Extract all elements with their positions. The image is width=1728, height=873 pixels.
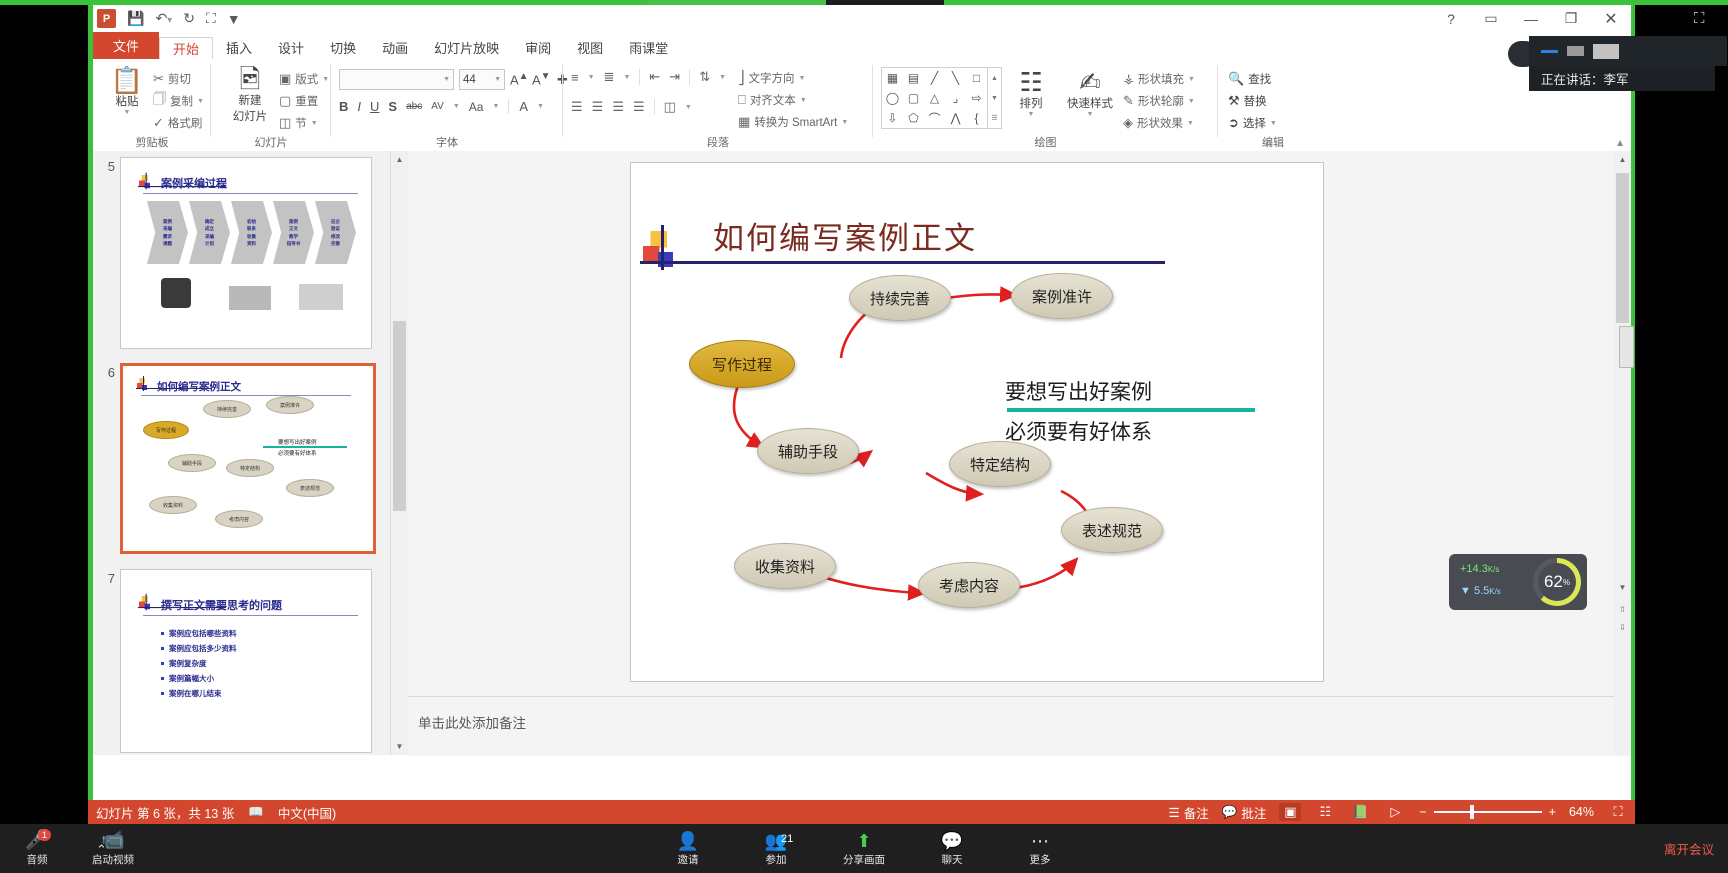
- tab-design[interactable]: 设计: [265, 37, 317, 59]
- help-button[interactable]: ?: [1431, 5, 1471, 32]
- outline-pen-icon: ✎: [1123, 93, 1134, 109]
- upload-speed-unit: K/s: [1488, 565, 1500, 574]
- numbering-icon[interactable]: ≣: [604, 69, 615, 85]
- zoom-level-label[interactable]: 64%: [1569, 805, 1594, 819]
- quick-styles-icon: ✍: [1079, 69, 1101, 95]
- share-screen-label: 分享画面: [843, 852, 885, 867]
- thumbnail-row-5[interactable]: 5 案例采编过程 案例采编需求课题 确定成立采编计划 初始联系收集资料 案例正文…: [93, 157, 390, 349]
- comments-button[interactable]: 💬 批注: [1222, 803, 1267, 822]
- tab-view[interactable]: 视图: [564, 37, 616, 59]
- chevron-down-icon: ▼: [799, 75, 806, 82]
- tab-transitions[interactable]: 切换: [317, 37, 369, 59]
- chevron-up-icon[interactable]: ⌃: [96, 842, 107, 858]
- drawing-group-label: 绘图: [873, 134, 1218, 150]
- copy-label: 复制: [170, 93, 193, 109]
- align-text-label: 对齐文本: [750, 92, 796, 108]
- video-panel[interactable]: 正在讲话：李军: [1529, 36, 1715, 91]
- thumb-node: 辅助手段: [168, 454, 216, 472]
- taskbar-item-audio[interactable]: 1 🎤 音频: [8, 831, 66, 867]
- thumb-bullet: 案例复杂度: [169, 658, 207, 669]
- paste-label: 粘贴: [116, 93, 139, 109]
- cpu-usage-ring: 62%: [1533, 558, 1581, 606]
- select-label: 选择: [1243, 115, 1266, 131]
- taskbar-item-chat[interactable]: 💬 聊天: [923, 831, 981, 867]
- paintbrush-icon: ✓: [153, 115, 164, 131]
- leave-meeting-button[interactable]: 离开会议: [1664, 839, 1714, 858]
- reset-button[interactable]: ▢ 重置: [279, 90, 329, 112]
- download-speed-unit: K/s: [1489, 587, 1501, 596]
- italic-button[interactable]: I: [357, 99, 361, 114]
- status-bar: 幻灯片 第 6 张，共 13 张 📖 中文(中国) ☰ 备注 💬 批注 ▣ ☷ …: [88, 800, 1635, 824]
- section-button[interactable]: ◫ 节 ▼: [279, 112, 329, 134]
- chevron-down-icon: ▼: [197, 98, 204, 105]
- arrange-label: 排列: [1020, 95, 1043, 111]
- columns-icon[interactable]: ◫: [654, 99, 676, 115]
- shape-oval-icon[interactable]: ◯: [882, 88, 903, 108]
- font-group-label: 字体: [331, 134, 563, 150]
- paste-button[interactable]: 📋 粘贴 ▼: [101, 67, 153, 116]
- decrease-indent-icon[interactable]: ⇤: [639, 69, 660, 85]
- section-icon: ◫: [279, 115, 291, 131]
- notes-pane[interactable]: 单击此处添加备注: [408, 696, 1631, 756]
- scroll-down-icon[interactable]: ▼: [391, 738, 408, 755]
- tab-review[interactable]: 审阅: [512, 37, 564, 59]
- notes-placeholder[interactable]: 单击此处添加备注: [418, 712, 526, 732]
- font-name-input[interactable]: ▼: [339, 69, 454, 90]
- chevron-down-icon: ▼: [1270, 120, 1277, 127]
- chevron-down-icon: ▼: [537, 103, 544, 110]
- taskbar-item-participants[interactable]: 21 👥 参加: [747, 831, 805, 867]
- find-button[interactable]: 🔍 查找: [1228, 68, 1277, 90]
- replace-label: 替换: [1244, 93, 1267, 109]
- thumb-node: 特定结构: [226, 459, 274, 477]
- shape-effects-button[interactable]: ◈ 形状效果 ▼: [1123, 112, 1195, 134]
- language-label[interactable]: 中文(中国): [278, 803, 336, 822]
- change-case-button[interactable]: Aa: [469, 100, 484, 114]
- participant-count: 21: [781, 833, 793, 845]
- thumbnail-title: 撰写正文需要思考的问题: [161, 597, 282, 613]
- thumb-node: 持续完善: [203, 400, 251, 418]
- shape-fill-label: 形状填充: [1138, 71, 1184, 87]
- bullet-dot: [161, 632, 164, 635]
- copy-icon: 🗍: [153, 90, 166, 112]
- thumb-books-image: [229, 286, 271, 310]
- format-painter-label: 格式刷: [168, 115, 203, 131]
- slide-title: 如何编写案例正文: [713, 213, 977, 258]
- slide-thumbnail-pane[interactable]: 5 案例采编过程 案例采编需求课题 确定成立采编计划 初始联系收集资料 案例正文…: [93, 151, 390, 755]
- close-button[interactable]: ✕: [1591, 5, 1631, 32]
- flow-node-4[interactable]: 特定结构: [949, 441, 1051, 487]
- shape-effects-label: 形状效果: [1137, 115, 1183, 131]
- notes-button[interactable]: ☰ 备注: [1169, 803, 1209, 822]
- slides-group-label: 幻灯片: [211, 134, 331, 150]
- scroll-down-icon[interactable]: ▼: [988, 88, 1001, 108]
- zoom-in-button[interactable]: +: [1549, 805, 1556, 819]
- format-painter-button[interactable]: ✓ 格式刷: [153, 112, 204, 134]
- slide-banner-line-2: 必须要有好体系: [1005, 416, 1152, 446]
- flow-node-0[interactable]: 持续完善: [849, 275, 951, 321]
- view-normal-button[interactable]: ▣: [1279, 803, 1301, 821]
- invite-label: 邀请: [678, 852, 699, 867]
- chevron-down-icon: ▼: [311, 120, 318, 127]
- taskbar-center: 👤 邀请 21 👥 参加 ⬆ 分享画面 💬 聊天 ⋯ 更多: [659, 824, 1069, 873]
- thumb-node: 考虑内容: [215, 510, 263, 528]
- scrollbar-thumb[interactable]: [1616, 173, 1629, 323]
- restore-icon[interactable]: [1567, 46, 1584, 56]
- chevron-down-icon: ▼: [1188, 76, 1195, 83]
- thumbnail-title: 案例采编过程: [161, 175, 227, 191]
- ribbon-group-clipboard: 📋 粘贴 ▼ ✂ 剪切 🗍 复制 ▼: [93, 59, 211, 151]
- align-right-icon[interactable]: ☰: [612, 99, 624, 115]
- reset-label: 重置: [295, 93, 318, 109]
- powerpoint-window: P 💾 ↶▾ ↻ ⛶ ▼ ? ▭ — ❐ ✕ 文件 开始 插入 设计 切换 动画…: [93, 5, 1631, 800]
- comment-bubble-icon: 💬: [1222, 805, 1238, 820]
- invite-person-icon: 👤: [677, 831, 699, 851]
- spellcheck-icon[interactable]: 📖: [248, 805, 264, 820]
- chevron-down-icon: ▼: [322, 76, 329, 83]
- more-dots-icon: ⋯: [1031, 831, 1049, 851]
- collapse-ribbon-icon[interactable]: ▲: [1615, 138, 1625, 149]
- thumb-node: 写作过程: [143, 421, 189, 439]
- new-slide-icon: 🖻: [240, 66, 261, 92]
- thumb-bullet: 案例应包括多少资料: [169, 643, 237, 654]
- next-slide-icon[interactable]: ⇩: [1616, 621, 1629, 634]
- slide-banner-line-1: 要想写出好案例: [1005, 376, 1152, 406]
- zoom-out-button[interactable]: −: [1419, 805, 1426, 819]
- paragraph-group-label: 段落: [563, 134, 873, 150]
- chevron-down-icon: ▼: [1028, 111, 1035, 118]
- shape-right-arrow-icon[interactable]: ⇨: [966, 88, 987, 108]
- tab-slideshow[interactable]: 幻灯片放映: [421, 37, 512, 59]
- slide-teal-rule: [1007, 408, 1255, 412]
- shape-fill-button[interactable]: ⚶ 形状填充 ▼: [1123, 68, 1195, 90]
- bullet-dot: [161, 692, 164, 695]
- thumb-bullet: 案例在哪儿结束: [169, 688, 222, 699]
- align-left-icon[interactable]: ☰: [571, 99, 583, 115]
- chevron-down-icon: ▼: [623, 74, 630, 81]
- strikethrough-button[interactable]: abc: [406, 101, 422, 112]
- minimize-icon[interactable]: [1541, 50, 1558, 53]
- grow-font-button[interactable]: A▲: [510, 71, 527, 87]
- taskbar-item-share-screen[interactable]: ⬆ 分享画面: [835, 831, 893, 867]
- section-label: 节: [295, 115, 307, 131]
- notes-label: 备注: [1184, 803, 1209, 822]
- character-spacing-button[interactable]: AV: [431, 101, 444, 112]
- ribbon: 📋 粘贴 ▼ ✂ 剪切 🗍 复制 ▼: [93, 59, 1631, 152]
- arrange-button[interactable]: ☷ 排列 ▼: [1005, 69, 1057, 118]
- fullscreen-toggle-icon[interactable]: ⛶: [1694, 10, 1705, 27]
- thumbnail-title: 如何编写案例正文: [157, 379, 241, 394]
- shrink-font-button[interactable]: A▼: [532, 71, 549, 87]
- shape-textbox-icon[interactable]: ▦: [882, 68, 903, 88]
- customize-qat-icon[interactable]: ▼: [227, 11, 241, 27]
- zoom-handle[interactable]: [1470, 805, 1474, 819]
- quick-styles-button[interactable]: ✍ 快速样式 ▼: [1061, 69, 1119, 118]
- window-controls: ? ▭ — ❐ ✕: [1431, 5, 1631, 32]
- save-icon[interactable]: 💾: [127, 10, 144, 27]
- scroll-up-icon[interactable]: ▲: [391, 151, 408, 168]
- view-slide-sorter-button[interactable]: ☷: [1314, 803, 1336, 821]
- share-border-right: [1631, 0, 1635, 802]
- chevron-down-icon: ▼: [800, 97, 807, 104]
- shape-freeform-icon[interactable]: ⋀: [945, 108, 966, 128]
- thumb-bullet-list: 案例应包括哪些资料 案例应包括多少资料 案例复杂度 案例篇幅大小 案例在哪儿结束: [161, 626, 237, 701]
- shape-curve-icon[interactable]: ⌒: [924, 108, 945, 128]
- chevron-down-icon: ▼: [588, 74, 595, 81]
- participants-label: 参加: [766, 852, 787, 867]
- scrollbar-thumb[interactable]: [393, 321, 406, 511]
- cpu-usage-value: 62: [1544, 572, 1563, 592]
- start-presentation-icon[interactable]: ⛶: [206, 10, 216, 27]
- bullet-dot: [161, 662, 164, 665]
- task-pane-toggle[interactable]: [1619, 326, 1634, 368]
- taskbar-item-video[interactable]: 📹 启动视频: [84, 831, 142, 867]
- download-speed-value: 5.5: [1474, 585, 1489, 597]
- new-slide-label-1: 新建: [239, 92, 262, 108]
- shrink-font-label: A: [532, 73, 541, 88]
- active-speaker-label: 正在讲话：李军: [1529, 66, 1715, 91]
- minimize-button[interactable]: —: [1511, 5, 1551, 32]
- chevron-down-icon: ▼: [1087, 111, 1094, 118]
- flow-node-3[interactable]: 辅助手段: [757, 428, 859, 474]
- thumbnail-number: 6: [93, 363, 120, 554]
- cut-button[interactable]: ✂ 剪切: [153, 68, 204, 90]
- chevron-down-icon: ▼: [685, 104, 692, 111]
- quick-styles-label: 快速样式: [1067, 95, 1113, 111]
- cursor-arrow-icon: ➲: [1228, 115, 1239, 131]
- chevron-down-icon: ▼: [492, 103, 499, 110]
- copy-button[interactable]: 🗍 复制 ▼: [153, 90, 204, 112]
- thumb-node: 案例准许: [266, 396, 314, 414]
- network-speed-widget: +14.3K/s ▼ 5.5K/s 62%: [1449, 554, 1587, 610]
- shape-pentagon-icon[interactable]: ⬠: [903, 108, 924, 128]
- maximize-icon[interactable]: [1593, 44, 1619, 59]
- layout-label: 版式: [295, 71, 318, 87]
- bullet-dot: [161, 647, 164, 650]
- shape-outline-label: 形状轮廓: [1138, 93, 1184, 109]
- replace-icon: ⚒: [1228, 93, 1240, 109]
- zoom-taskbar: 1 🎤 音频 📹 启动视频 ⌃ 👤 邀请 21 👥 参加 ⬆ 分享画面: [0, 824, 1728, 873]
- editor-scrollbar[interactable]: ▲ ▼ ⇧ ⇩: [1614, 151, 1631, 755]
- ribbon-group-drawing: ▦ ▤ ╱ ╲ □ ◯ ▢ △ ⌟ ⇨ ⇩ ⬠ ⌒ ⋀ {: [873, 59, 1218, 151]
- cut-label: 剪切: [168, 71, 191, 87]
- screen-root: 您正在观看樊樊元的屏幕 ✎ 查看选项 P 💾 ↶▾ ↻ ⛶ ▼ ? ▭ — ❐ …: [0, 0, 1728, 873]
- align-text-icon: ⎕: [738, 92, 746, 108]
- fit-to-window-icon[interactable]: ⛶: [1607, 803, 1629, 821]
- slide-thumbnail-7[interactable]: 撰写正文需要思考的问题 案例应包括哪些资料 案例应包括多少资料 案例复杂度 案例…: [120, 569, 372, 753]
- select-button[interactable]: ➲ 选择 ▼: [1228, 112, 1277, 134]
- chevron-down-icon: ▼: [719, 74, 726, 81]
- text-direction-button[interactable]: ⎦ 文字方向 ▼: [738, 67, 848, 89]
- tab-insert[interactable]: 插入: [213, 37, 265, 59]
- chevron-down-icon: ▼: [443, 76, 450, 83]
- notes-icon: ☰: [1169, 805, 1180, 820]
- scissors-icon: ✂: [153, 71, 164, 87]
- video-panel-controls[interactable]: [1529, 36, 1727, 66]
- scroll-up-icon[interactable]: ▲: [988, 68, 1001, 88]
- clipboard-icon: 📋: [111, 67, 143, 93]
- underline-button[interactable]: U: [370, 99, 379, 114]
- chevron-down-icon: ▼: [453, 103, 460, 110]
- layout-button[interactable]: ▣ 版式 ▼: [279, 68, 329, 90]
- shape-elbow-icon[interactable]: ⌟: [945, 88, 966, 108]
- slide-count-label: 幻灯片 第 6 张，共 13 张: [96, 803, 234, 822]
- thumb-node: 表述规范: [286, 479, 334, 497]
- ribbon-group-font: ▼ 44 ▼ A▲ A▼ ✚ B I U S abc AV: [331, 59, 563, 151]
- slide-thumbnail-6[interactable]: 如何编写案例正文 持续完善 案例准许 写作过程 辅助手段 特定结构 表述规范 收…: [120, 363, 376, 554]
- view-slideshow-button[interactable]: ▷: [1384, 803, 1406, 821]
- shapes-gallery-scroll[interactable]: ▲ ▼ ☰: [988, 67, 1002, 129]
- tab-file[interactable]: 文件: [93, 32, 159, 59]
- work-area: 5 案例采编过程 案例采编需求课题 确定成立采编计划 初始联系收集资料 案例正文…: [93, 151, 1631, 755]
- binoculars-icon: 🔍: [1228, 71, 1244, 87]
- taskbar-item-more[interactable]: ⋯ 更多: [1011, 831, 1069, 867]
- taskbar-item-invite[interactable]: 👤 邀请: [659, 831, 717, 867]
- thumbnail-row-6[interactable]: 6 如何编写案例正文 持续完善 案例准许 写作过程 辅助手段 特定结构 表述: [93, 363, 390, 554]
- shape-triangle-icon[interactable]: △: [924, 88, 945, 108]
- audio-badge: 1: [38, 829, 51, 841]
- chat-bubble-icon: 💬: [941, 831, 963, 851]
- slide-thumbnail-5[interactable]: 案例采编过程 案例采编需求课题 确定成立采编计划 初始联系收集资料 案例正文教学…: [120, 157, 372, 349]
- flow-node-7[interactable]: 考虑内容: [918, 562, 1020, 608]
- chevron-down-icon: ▼: [841, 119, 848, 126]
- shape-arrow-icon[interactable]: ╲: [945, 68, 966, 88]
- flow-node-6[interactable]: 收集资料: [734, 543, 836, 589]
- scroll-down-icon[interactable]: ▼: [1616, 581, 1629, 594]
- audio-label: 音频: [27, 852, 48, 867]
- text-direction-label: 文字方向: [749, 70, 795, 86]
- smartart-icon: ▦: [738, 114, 750, 130]
- chevron-down-icon: ▼: [1187, 120, 1194, 127]
- font-color-button[interactable]: A: [508, 99, 528, 114]
- ribbon-group-paragraph: ≡▼ ≣▼ ⇤ ⇥ ⇅▼ ☰ ☰ ☰ ☰ ◫▼ ⎦ 文字方向: [563, 59, 873, 151]
- fill-bucket-icon: ⚶: [1123, 71, 1134, 87]
- chevron-down-icon: ▼: [124, 109, 131, 116]
- thumb-clock-image: [161, 278, 191, 308]
- undo-icon[interactable]: ↶▾: [155, 10, 172, 27]
- taskbar-left: 1 🎤 音频 📹 启动视频 ⌃: [8, 824, 142, 873]
- bullets-icon[interactable]: ≡: [571, 70, 579, 85]
- text-shadow-button[interactable]: S: [388, 99, 397, 114]
- grow-font-label: A: [510, 73, 519, 88]
- shapes-gallery[interactable]: ▦ ▤ ╱ ╲ □ ◯ ▢ △ ⌟ ⇨ ⇩ ⬠ ⌒ ⋀ {: [881, 67, 988, 129]
- shape-vertical-textbox-icon[interactable]: ▤: [903, 68, 924, 88]
- download-speed: ▼ 5.5K/s: [1460, 585, 1501, 597]
- chevron-down-icon: ▼: [1188, 98, 1195, 105]
- ribbon-group-slides: 🖻 新建 幻灯片 ▣ 版式 ▼ ▢ 重置: [211, 59, 331, 151]
- flow-node-5[interactable]: 表述规范: [1061, 507, 1163, 553]
- font-size-value: 44: [463, 74, 476, 86]
- shape-rounded-rect-icon[interactable]: ▢: [903, 88, 924, 108]
- view-reading-button[interactable]: 📗: [1349, 803, 1371, 821]
- more-label: 更多: [1030, 852, 1051, 867]
- ribbon-display-options-button[interactable]: ▭: [1471, 5, 1511, 32]
- shape-line-icon[interactable]: ╱: [924, 68, 945, 88]
- find-label: 查找: [1248, 71, 1271, 87]
- line-spacing-icon[interactable]: ⇅: [689, 69, 710, 85]
- thumbnail-row-7[interactable]: 7 撰写正文需要思考的问题 案例应包括哪些资料 案例应包括多少资料 案例复杂度 …: [93, 569, 390, 753]
- zoom-track[interactable]: [1434, 811, 1542, 813]
- reset-icon: ▢: [279, 93, 291, 109]
- thumb-boxes-image: [299, 284, 343, 310]
- ribbon-tab-bar: 文件 开始 插入 设计 切换 动画 幻灯片放映 审阅 视图 雨课堂: [93, 32, 1631, 60]
- thumbnail-pane-scrollbar[interactable]: ▲ ▼: [390, 151, 408, 755]
- chevron-flow: 案例采编需求课题 确定成立采编计划 初始联系收集资料 案例正文教学指导书 征企验…: [147, 201, 356, 264]
- new-slide-button[interactable]: 🖻 新建 幻灯片: [221, 66, 279, 124]
- layout-icon: ▣: [279, 71, 291, 87]
- increase-indent-icon[interactable]: ⇥: [669, 69, 680, 85]
- font-size-input[interactable]: 44 ▼: [459, 69, 505, 90]
- thumbnail-number: 5: [93, 157, 120, 349]
- zoom-slider[interactable]: − +: [1419, 805, 1556, 819]
- thumbnail-number: 7: [93, 569, 120, 753]
- thumb-bullet: 案例应包括哪些资料: [169, 628, 237, 639]
- effects-icon: ◈: [1123, 115, 1133, 131]
- replace-button[interactable]: ⚒ 替换: [1228, 90, 1277, 112]
- gallery-more-icon[interactable]: ☰: [988, 108, 1001, 128]
- arrange-icon: ☷: [1019, 69, 1042, 95]
- status-bar-right: ☰ 备注 💬 批注 ▣ ☷ 📗 ▷ − + 64% ⛶: [1169, 803, 1629, 822]
- convert-smartart-label: 转换为 SmartArt: [754, 114, 837, 130]
- thumb-teal-rule: [263, 446, 347, 448]
- justify-icon[interactable]: ☰: [633, 99, 645, 115]
- ribbon-group-editing: 🔍 查找 ⚒ 替换 ➲ 选择 ▼ 编辑: [1218, 59, 1328, 151]
- cpu-usage-unit: %: [1563, 578, 1570, 587]
- convert-smartart-button[interactable]: ▦ 转换为 SmartArt ▼: [738, 111, 848, 133]
- shape-down-arrow-icon[interactable]: ⇩: [882, 108, 903, 128]
- tab-animations[interactable]: 动画: [369, 37, 421, 59]
- tab-yuketang[interactable]: 雨课堂: [616, 37, 681, 59]
- status-bar-left: 幻灯片 第 6 张，共 13 张 📖 中文(中国): [88, 803, 336, 822]
- editing-group-label: 编辑: [1218, 134, 1328, 150]
- redo-icon[interactable]: ↻: [183, 10, 195, 27]
- chevron-down-icon: ▼: [494, 76, 501, 83]
- bullet-dot: [161, 677, 164, 680]
- shape-outline-button[interactable]: ✎ 形状轮廓 ▼: [1123, 90, 1195, 112]
- chat-label: 聊天: [942, 852, 963, 867]
- clipboard-group-label: 剪贴板: [93, 134, 211, 150]
- text-direction-icon: ⎦: [738, 70, 745, 86]
- flow-node-1[interactable]: 案例准许: [1011, 273, 1113, 319]
- thumb-banner-2: 必须要有好体系: [278, 449, 317, 457]
- upload-speed: +14.3K/s: [1460, 563, 1499, 575]
- cpu-usage-value-wrap: 62%: [1538, 563, 1576, 601]
- thumb-banner-1: 要想写出好案例: [278, 438, 317, 446]
- new-slide-label-2: 幻灯片: [233, 108, 268, 124]
- bold-button[interactable]: B: [339, 99, 348, 114]
- flow-node-2[interactable]: 写作过程: [689, 340, 795, 388]
- thumb-node: 收集资料: [149, 496, 197, 514]
- align-center-icon[interactable]: ☰: [592, 99, 604, 115]
- share-screen-icon: ⬆: [856, 831, 871, 851]
- align-text-button[interactable]: ⎕ 对齐文本 ▼: [738, 89, 848, 111]
- shape-brace-icon[interactable]: {: [966, 108, 987, 128]
- restore-button[interactable]: ❐: [1551, 5, 1591, 32]
- previous-slide-icon[interactable]: ⇧: [1616, 603, 1629, 616]
- shape-rectangle-icon[interactable]: □: [966, 68, 987, 88]
- thumb-bullet: 案例篇幅大小: [169, 673, 214, 684]
- comments-label: 批注: [1241, 803, 1266, 822]
- current-slide[interactable]: 如何编写案例正文: [630, 162, 1324, 682]
- upload-speed-value: +14.3: [1460, 563, 1488, 575]
- tab-home[interactable]: 开始: [159, 37, 213, 60]
- slide-editor[interactable]: 如何编写案例正文: [408, 151, 1631, 755]
- powerpoint-logo-icon: P: [97, 9, 116, 28]
- scroll-up-icon[interactable]: ▲: [1614, 151, 1631, 168]
- quick-access-toolbar: P 💾 ↶▾ ↻ ⛶ ▼: [93, 5, 1631, 32]
- taskbar-right: 离开会议: [1664, 824, 1714, 873]
